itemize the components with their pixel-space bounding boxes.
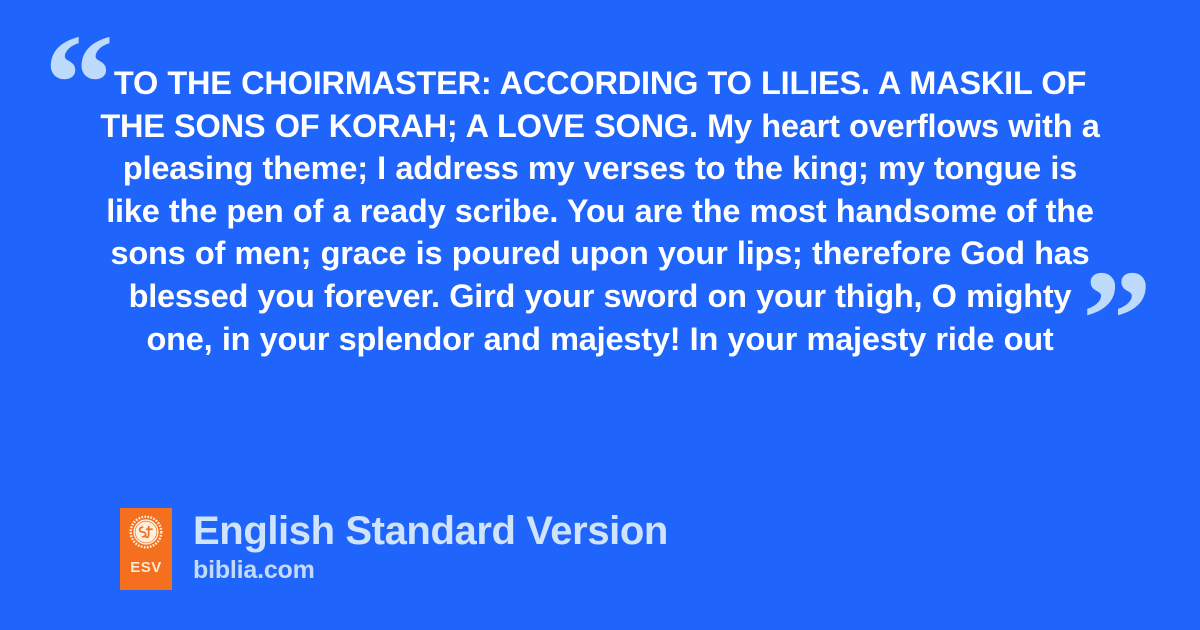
verse-text: TO THE CHOIRMASTER: ACCORDING TO LILIES.… xyxy=(100,62,1100,360)
esv-logo-abbrev: ESV xyxy=(130,560,162,575)
site-url-label[interactable]: biblia.com xyxy=(193,556,668,584)
closing-quote-icon: ” xyxy=(1082,250,1150,390)
attribution-text: English Standard Version biblia.com xyxy=(193,508,668,584)
esv-seal-icon xyxy=(129,515,163,549)
attribution[interactable]: ESV English Standard Version biblia.com xyxy=(120,508,668,590)
verse-container: TO THE CHOIRMASTER: ACCORDING TO LILIES.… xyxy=(100,62,1100,360)
bible-version-name: English Standard Version xyxy=(193,508,668,554)
esv-logo[interactable]: ESV xyxy=(120,508,172,590)
verse-quote-card: “ TO THE CHOIRMASTER: ACCORDING TO LILIE… xyxy=(0,0,1200,630)
